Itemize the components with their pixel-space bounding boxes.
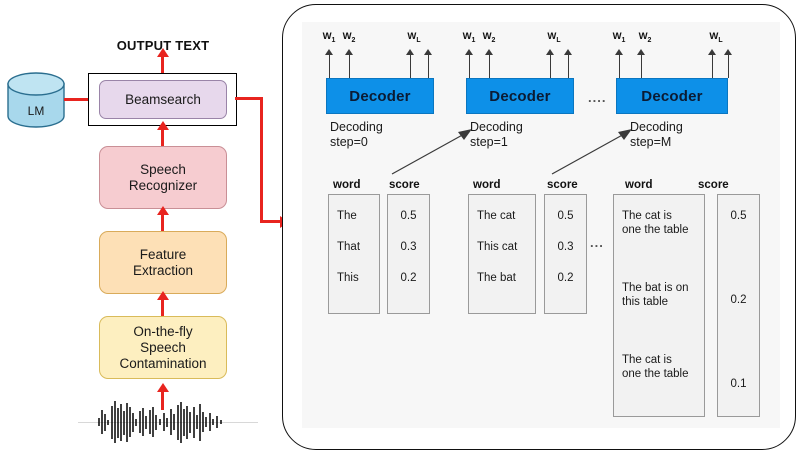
decoder-output-arrow-step1-4 — [568, 55, 569, 78]
arrowhead-feature-to-recognizer — [157, 206, 169, 215]
decoder-box-step1[interactable]: Decoder — [466, 78, 574, 114]
word-cell-step1-0: The cat — [477, 209, 515, 223]
w-label-step0-1: W1 — [318, 31, 340, 44]
decoder-output-arrowhead-step0-1 — [325, 49, 333, 55]
speech-contamination-box[interactable]: On-the-fly Speech Contamination — [99, 316, 227, 379]
decoding-step-label-stepM-line2: step=M — [630, 135, 683, 150]
decoder-output-arrow-step1-3 — [550, 55, 551, 78]
word-column-header-step0: word — [333, 179, 360, 191]
arrow-feature-to-recognizer — [161, 213, 164, 231]
decoder-output-arrowhead-step1-2 — [485, 49, 493, 55]
score-column-stepM: 0.5 0.2 0.1 — [717, 194, 760, 417]
speech-recognizer-label-line2: Recognizer — [129, 178, 197, 194]
score-cell-step0-1: 0.3 — [388, 240, 429, 254]
score-column-step0: 0.5 0.3 0.2 — [387, 194, 430, 314]
speech-recognizer-box[interactable]: Speech Recognizer — [99, 146, 227, 209]
decoding-step-label-step0-line1: Decoding — [330, 120, 383, 135]
w-label-step0-2: W2 — [338, 31, 360, 44]
score-cell-step0-0: 0.5 — [388, 209, 429, 223]
decoder-output-arrowhead-step0-2 — [345, 49, 353, 55]
decoder-output-arrowhead-step1-3 — [546, 49, 554, 55]
decoder-output-arrow-step0-2 — [349, 55, 350, 78]
score-cell-stepM-0: 0.5 — [718, 209, 759, 223]
arrowhead-contamination-to-feature — [157, 291, 169, 300]
score-cell-step1-0: 0.5 — [545, 209, 586, 223]
contamination-label-line3: Contamination — [119, 356, 206, 372]
decoding-step-label-step0-line2: step=0 — [330, 135, 383, 150]
w-label-stepM-2: W2 — [634, 31, 656, 44]
decoding-step-label-stepM-line1: Decoding — [630, 120, 683, 135]
decoding-step-label-step1-line2: step=1 — [470, 135, 523, 150]
decoder-output-arrow-step1-1 — [469, 55, 470, 78]
word-column-step1: The cat This cat The bat — [468, 194, 536, 314]
w-label-stepM-L: WL — [705, 31, 727, 44]
decoder-output-arrow-stepM-2 — [641, 55, 642, 78]
word-column-header-step1: word — [473, 179, 500, 191]
connector-beamsearch-right-h2 — [260, 220, 282, 223]
flow-arrow-step1-to-stepM — [550, 126, 635, 176]
arrowhead-waveform-to-contamination — [157, 383, 169, 392]
word-cell-step0-0: The — [337, 209, 357, 223]
beamsearch-box[interactable]: Beamsearch — [99, 80, 227, 119]
decoding-step-label-step1-line1: Decoding — [470, 120, 523, 135]
lm-label: LM — [7, 104, 65, 118]
w-label-step1-L: WL — [543, 31, 565, 44]
decoder-output-arrowhead-step0-3 — [406, 49, 414, 55]
decoder-output-arrow-stepM-1 — [619, 55, 620, 78]
decoder-output-arrowhead-stepM-4 — [724, 49, 732, 55]
decoding-step-label-stepM: Decoding step=M — [630, 120, 683, 150]
feature-extraction-label-line2: Extraction — [133, 263, 193, 279]
decoder-output-arrowhead-stepM-2 — [637, 49, 645, 55]
score-column-step1: 0.5 0.3 0.2 — [544, 194, 587, 314]
connector-beamsearch-right-v — [260, 97, 263, 223]
decoder-output-arrowhead-step1-1 — [465, 49, 473, 55]
w-label-step0-L: WL — [403, 31, 425, 44]
arrow-recognizer-to-beamsearch — [161, 128, 164, 146]
word-column-header-stepM: word — [625, 179, 652, 191]
decoding-step-label-step1: Decoding step=1 — [470, 120, 523, 150]
word-cell-step1-1: This cat — [477, 240, 517, 254]
arrowhead-output-text — [157, 48, 169, 57]
score-cell-stepM-2: 0.1 — [718, 377, 759, 391]
flow-arrow-step0-to-step1 — [390, 126, 475, 176]
decoding-step-label-step0: Decoding step=0 — [330, 120, 383, 150]
score-cell-step1-1: 0.3 — [545, 240, 586, 254]
tables-ellipsis: ... — [590, 235, 604, 250]
decoder-output-arrow-step0-1 — [329, 55, 330, 78]
lm-database-cylinder — [7, 72, 65, 128]
word-cell-step1-2: The bat — [477, 271, 516, 285]
score-column-header-step0: score — [389, 179, 420, 191]
arrow-beamsearch-to-output — [161, 55, 164, 75]
contamination-label-line1: On-the-fly — [119, 324, 206, 340]
w-label-step1-2: W2 — [478, 31, 500, 44]
w-label-stepM-1: W1 — [608, 31, 630, 44]
word-cell-step0-2: This — [337, 271, 359, 285]
w-label-step1-1: W1 — [458, 31, 480, 44]
score-cell-step0-2: 0.2 — [388, 271, 429, 285]
audio-waveform-icon — [95, 398, 235, 446]
connector-beamsearch-right-h1 — [235, 97, 263, 100]
decoder-output-arrow-step1-2 — [489, 55, 490, 78]
contamination-label-line2: Speech — [119, 340, 206, 356]
feature-extraction-label-line1: Feature — [133, 247, 193, 263]
arrowhead-recognizer-to-beamsearch — [157, 121, 169, 130]
decoder-ellipsis: .... — [588, 90, 606, 105]
decoder-output-arrowhead-stepM-1 — [615, 49, 623, 55]
decoder-output-arrowhead-step1-4 — [564, 49, 572, 55]
speech-recognizer-label-line1: Speech — [129, 162, 197, 178]
decoder-box-step0[interactable]: Decoder — [326, 78, 434, 114]
arrow-contamination-to-feature — [161, 298, 164, 316]
word-column-step0: The That This — [328, 194, 380, 314]
feature-extraction-box[interactable]: Feature Extraction — [99, 231, 227, 294]
decoder-box-stepM[interactable]: Decoder — [616, 78, 728, 114]
word-column-stepM: The cat is one the table The bat is on t… — [613, 194, 705, 417]
word-cell-stepM-0: The cat is one the table — [622, 209, 694, 237]
score-cell-stepM-1: 0.2 — [718, 293, 759, 307]
decoder-output-arrow-stepM-4 — [728, 55, 729, 78]
score-cell-step1-2: 0.2 — [545, 271, 586, 285]
decoder-output-arrow-step0-4 — [428, 55, 429, 78]
score-column-header-step1: score — [547, 179, 578, 191]
word-cell-stepM-2: The cat is one the table — [622, 353, 694, 381]
score-column-header-stepM: score — [698, 179, 729, 191]
word-cell-step0-1: That — [337, 240, 360, 254]
decoder-output-arrowhead-stepM-3 — [708, 49, 716, 55]
word-cell-stepM-1: The bat is on this table — [622, 281, 694, 309]
decoder-output-arrowhead-step0-4 — [424, 49, 432, 55]
decoder-output-arrow-stepM-3 — [712, 55, 713, 78]
decoder-output-arrow-step0-3 — [410, 55, 411, 78]
